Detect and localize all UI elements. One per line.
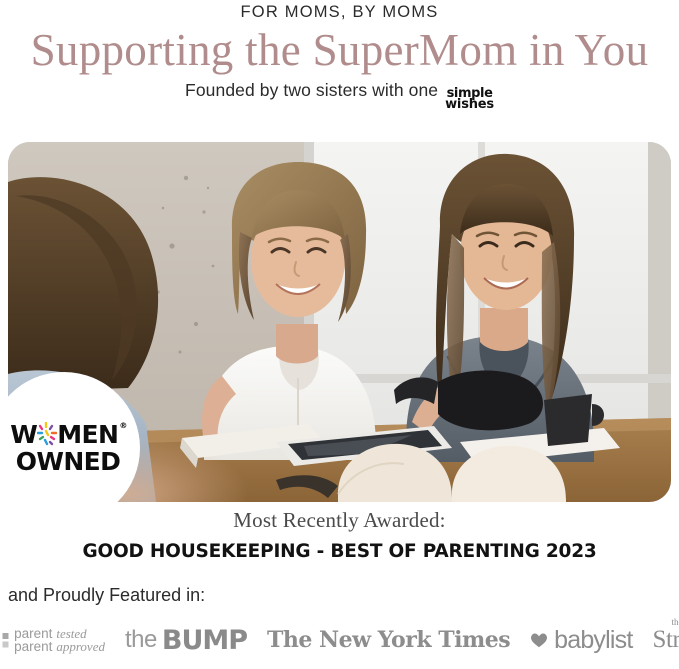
featured-label: and Proudly Featured in: [8,585,205,606]
confetti-burst-icon [37,422,57,446]
press-logo-strip: PARENT TESTED PARENT APPROVED parent tes… [0,614,679,666]
ptpa-squares-icon [0,633,9,648]
page-title: Supporting the SuperMom in You [0,24,679,76]
heart-icon [530,632,548,648]
the-bump-wordmark: BUMP [162,625,247,656]
ptpa-line2-a: parent [14,640,52,653]
eyebrow-text: FOR MOMS, BY MOMS [0,0,679,22]
simple-wishes-logo: simple wishes [445,88,494,110]
women-owned-line2: OWNED [16,448,121,475]
promotional-banner: FOR MOMS, BY MOMS Supporting the SuperMo… [0,0,679,669]
the-strategist-the: the [671,617,679,627]
new-york-times-wordmark: The New York Times [267,627,510,653]
ptpa-logo: PARENT TESTED PARENT APPROVED parent tes… [0,614,105,666]
the-bump-logo: the BUMP [125,625,247,656]
subline-row: Founded by two sisters with one simple w… [0,80,679,109]
babylist-wordmark: babylist [554,626,632,655]
subline-text: Founded by two sisters with one [185,80,438,101]
babylist-logo: babylist [530,626,632,655]
registered-trademark-icon: ® [119,413,126,439]
ptpa-wordmark: parent tested parent approved [0,627,105,653]
the-bump-the: the [125,626,157,654]
ptpa-line2-b: approved [56,640,105,653]
simple-wishes-logo-line2: wishes [445,99,494,110]
the-strategist-logo: the Strategist [652,626,679,654]
women-owned-w: W [10,422,37,448]
women-owned-men: MEN [57,422,118,448]
the-strategist-wordmark: Strategist [652,626,679,654]
women-owned-line1: W MEN ® [10,422,125,448]
award-name: GOOD HOUSEKEEPING - BEST OF PARENTING 20… [0,541,679,562]
new-york-times-logo: The New York Times [267,627,510,653]
